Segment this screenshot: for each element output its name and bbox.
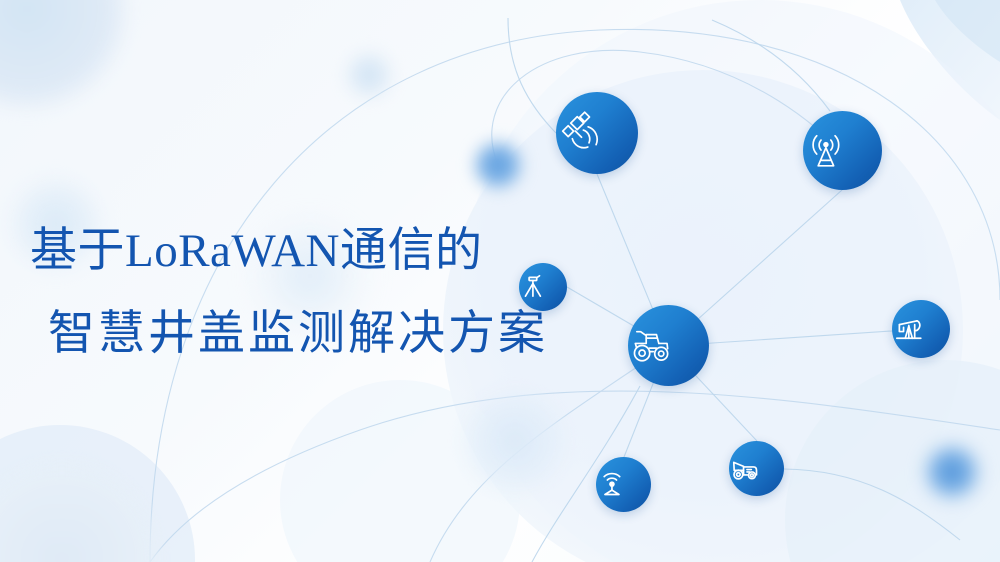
tractor-icon [628,322,709,369]
bottom-right-pale-circle [785,360,1000,562]
decorative-orb-center [462,388,568,494]
bottom-left-pale-circle [0,425,195,562]
orbit-arc-secondary [150,391,1000,562]
link-antenna-up [712,20,830,111]
orbit-arc-upper-left [492,50,842,165]
decorative-blue-dot-lower [921,441,983,503]
node-satellite [556,92,638,174]
decorative-orb-left-lower [0,458,162,562]
radio-tower-icon [803,128,882,174]
slide-title: 基于LoRaWAN通信的 智慧井盖监测解决方案 [30,228,590,358]
harvester-icon [729,453,784,485]
title-slide: 基于LoRaWAN通信的 智慧井盖监测解决方案 [0,0,1000,562]
link-satellite-upleft [508,18,556,133]
node-oil-pumpjack [892,300,950,358]
title-line-1: 基于LoRaWAN通信的 [30,228,590,275]
decorative-orb-top-small [344,50,394,100]
orbit-arc-lower [430,346,668,562]
wireless-sensor-icon [596,469,651,501]
link-harvester-lowerright [784,469,960,540]
node-wireless-sensor [596,457,651,512]
survey-tripod-icon [519,273,567,301]
decorative-orb-top-left [0,0,132,114]
oil-pumpjack-icon [892,312,950,346]
corner-sweep-top-right [900,0,1000,120]
node-survey-tripod [519,263,567,311]
decorative-blue-dot-upper [470,137,526,193]
node-tractor [628,305,709,386]
node-harvester [729,441,784,496]
node-radio-tower [803,111,882,190]
corner-sweep-top-right-2 [935,0,1000,62]
satellite-icon [556,109,638,157]
left-pale-wash [280,380,520,562]
title-line-2: 智慧井盖监测解决方案 [48,311,590,358]
